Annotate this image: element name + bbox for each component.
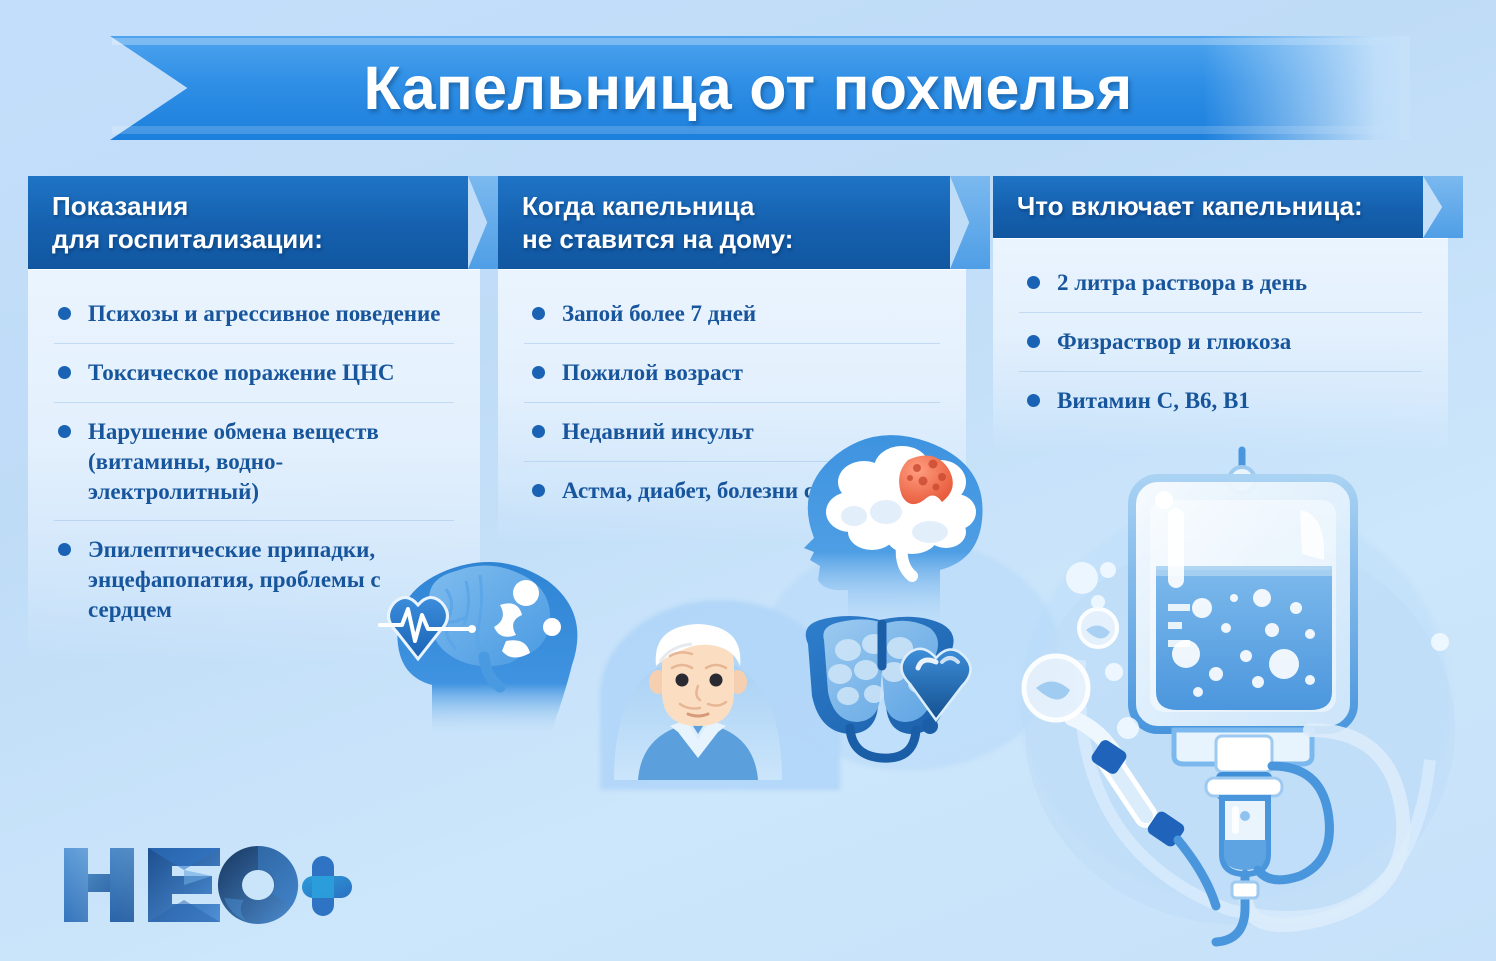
infographic-canvas: Капельница от похмелья Показания для гос…	[0, 0, 1496, 961]
list-item: Физраствор и глюкоза	[1019, 313, 1422, 372]
list-item: Запой более 7 дней	[524, 285, 940, 344]
neo-plus-logo	[58, 840, 358, 930]
header-line-1: Когда капельница	[522, 190, 930, 223]
list-item: Токсическое поражение ЦНС	[54, 344, 454, 403]
title-ribbon: Капельница от похмелья	[0, 22, 1496, 150]
header-notch	[950, 176, 990, 269]
column-header-contents: Что включает капельница:	[993, 176, 1423, 238]
iv-drip-bag-icon	[1010, 430, 1480, 950]
elderly-man-avatar-icon	[608, 600, 788, 780]
lungs-and-heart-icon	[790, 610, 980, 770]
column-header-not-at-home: Когда капельница не ставится на дому:	[498, 176, 950, 269]
header-line-2: не ставится на дому:	[522, 223, 930, 256]
header-line-1: Показания	[52, 190, 448, 223]
column-contents: Что включает капельница: 2 литра раствор…	[993, 176, 1468, 452]
header-notch	[1423, 176, 1463, 238]
head-with-brain-and-heart-ecg-icon	[360, 545, 610, 735]
header-line-2: для госпитализации:	[52, 223, 448, 256]
page-title: Капельница от похмелья	[0, 36, 1496, 140]
list-item: Нарушение обмена веществ (витамины, водн…	[54, 403, 454, 522]
list-item: Психозы и агрессивное поведение	[54, 285, 454, 344]
card-contents: 2 литра раствора в день Физраствор и глю…	[993, 238, 1448, 452]
column-header-hospitalization: Показания для госпитализации:	[28, 176, 468, 269]
list-item: Витамин С, В6, В1	[1019, 372, 1422, 430]
list-item: Пожилой возраст	[524, 344, 940, 403]
header-line-1: Что включает капельница:	[1017, 190, 1403, 223]
list-item: 2 литра раствора в день	[1019, 254, 1422, 313]
head-with-brain-stroke-lesion-icon	[790, 420, 1010, 630]
